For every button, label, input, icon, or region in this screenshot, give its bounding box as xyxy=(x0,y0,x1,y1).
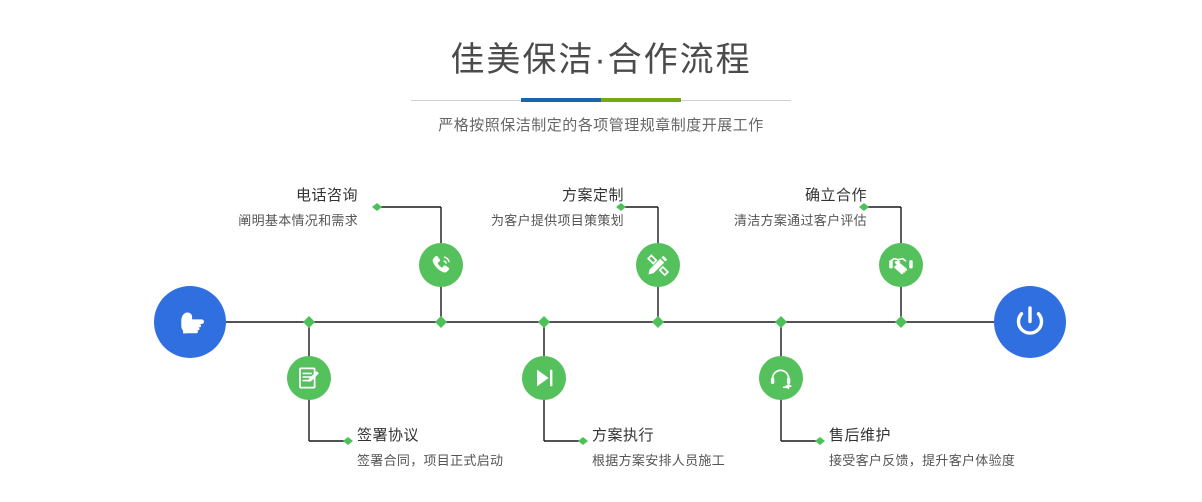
step-label-3: 方案定制 为客户提供项目策策划 xyxy=(491,186,624,231)
step-label-2-title: 签署协议 xyxy=(357,426,503,446)
document-sign-icon xyxy=(296,365,322,391)
marker-step-2-spine-diamond xyxy=(303,316,315,328)
power-icon xyxy=(1009,301,1051,343)
phone-call-icon xyxy=(428,252,454,278)
flow-start-node[interactable] xyxy=(154,286,226,358)
step-label-4-desc: 根据方案安排人员施工 xyxy=(592,451,725,471)
step-label-2-desc: 签署合同，项目正式启动 xyxy=(357,451,503,471)
step-label-2: 签署协议 签署合同，项目正式启动 xyxy=(357,426,503,471)
process-flow-infographic: 佳美保洁·合作流程 严格按照保洁制定的各项管理规章制度开展工作 xyxy=(0,0,1202,502)
step-label-5-title: 确立合作 xyxy=(734,186,867,206)
step-label-4: 方案执行 根据方案安排人员施工 xyxy=(592,426,725,471)
step-label-5: 确立合作 清洁方案通过客户评估 xyxy=(734,186,867,231)
step-label-6: 售后维护 接受客户反馈，提升客户体验度 xyxy=(829,426,1015,471)
step-icon-4[interactable] xyxy=(522,356,566,400)
marker-step-1-label-diamond xyxy=(372,203,382,211)
step-icon-6[interactable] xyxy=(759,356,803,400)
marker-step-6-label-diamond xyxy=(815,437,825,445)
marker-step-1-spine-diamond xyxy=(435,316,447,328)
step-label-3-desc: 为客户提供项目策策划 xyxy=(491,211,624,231)
step-label-5-desc: 清洁方案通过客户评估 xyxy=(734,211,867,231)
handshake-icon xyxy=(888,252,914,278)
pointing-hand-icon xyxy=(170,302,210,342)
marker-step-4-label-diamond xyxy=(578,437,588,445)
step-label-3-title: 方案定制 xyxy=(491,186,624,206)
step-label-6-desc: 接受客户反馈，提升客户体验度 xyxy=(829,451,1015,471)
step-label-1-desc: 阐明基本情况和需求 xyxy=(238,211,358,231)
step-icon-5[interactable] xyxy=(879,243,923,287)
marker-step-2-label-diamond xyxy=(343,437,353,445)
marker-step-6-spine-diamond xyxy=(775,316,787,328)
step-label-6-title: 售后维护 xyxy=(829,426,1015,446)
step-icon-2[interactable] xyxy=(287,356,331,400)
flow-end-node[interactable] xyxy=(994,286,1066,358)
flow-diagram: 电话咨询 阐明基本情况和需求 方案定制 为客户提供项目策策划 xyxy=(0,0,1202,502)
customer-service-add-icon xyxy=(768,365,794,391)
step-label-4-title: 方案执行 xyxy=(592,426,725,446)
pencil-ruler-icon xyxy=(645,252,671,278)
play-execute-icon xyxy=(531,365,557,391)
step-label-1-title: 电话咨询 xyxy=(238,186,358,206)
step-icon-1[interactable] xyxy=(419,243,463,287)
marker-step-5-spine-diamond xyxy=(895,316,907,328)
marker-step-4-spine-diamond xyxy=(538,316,550,328)
step-label-1: 电话咨询 阐明基本情况和需求 xyxy=(238,186,358,231)
step-icon-3[interactable] xyxy=(636,243,680,287)
marker-step-3-spine-diamond xyxy=(652,316,664,328)
